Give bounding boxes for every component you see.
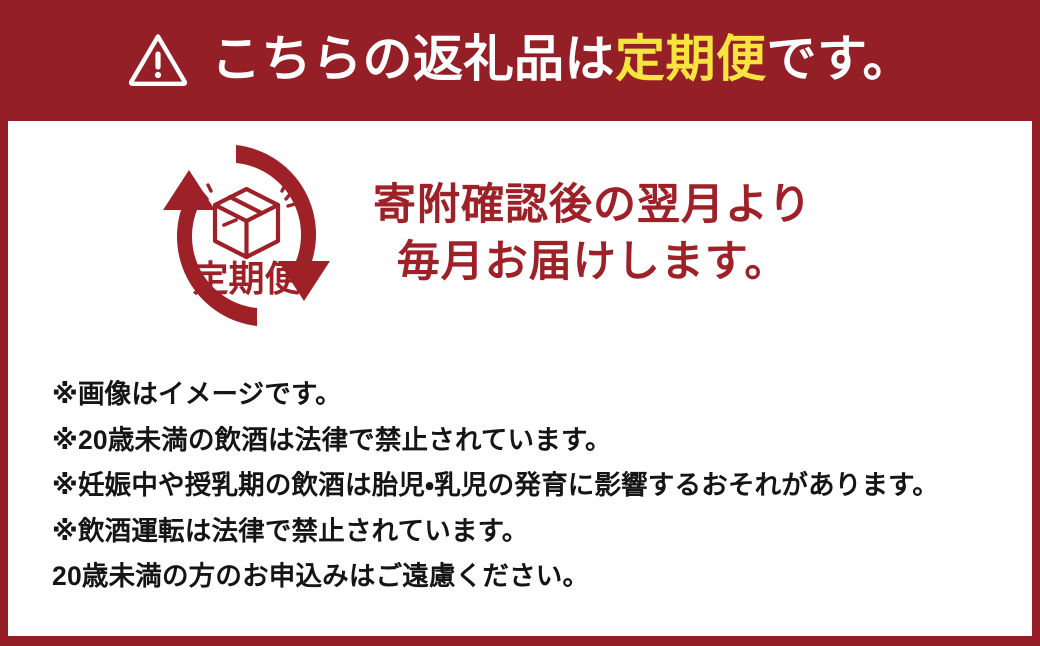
delivery-message: 寄附確認後の翌月より 毎月お届けします。 [373, 178, 812, 292]
parcel-box-icon [215, 189, 278, 257]
header-banner-content: こちらの返礼品は定期便です。 [127, 31, 913, 87]
delivery-message-line1: 寄附確認後の翌月より [373, 178, 812, 235]
note-item: ※飲酒運転は法律で禁止されています。 [52, 509, 1012, 555]
subscription-cycle-icon: 定期便 [144, 133, 349, 338]
header-banner: こちらの返礼品は定期便です。 [0, 0, 1040, 121]
note-item: 20歳未満の方のお申込みはご遠慮ください。 [52, 554, 1012, 600]
subscription-section: 定期便 寄附確認後の翌月より 毎月お届けします。 [8, 121, 1032, 349]
header-text-highlight: 定期便 [615, 31, 767, 87]
note-item: ※妊娠中や授乳期の飲酒は胎児・乳児の発育に影響するおそれがあります。 [52, 463, 1012, 509]
note-item: ※画像はイメージです。 [52, 372, 1012, 418]
header-banner-text: こちらの返礼品は定期便です。 [211, 34, 913, 84]
header-text-after: です。 [767, 31, 914, 87]
cycle-arc-left [163, 170, 257, 326]
note-item: ※20歳未満の飲酒は法律で禁止されています。 [52, 418, 1012, 464]
warning-triangle-icon [127, 31, 189, 87]
header-text-before: こちらの返礼品は [211, 31, 615, 87]
promo-card: こちらの返礼品は定期便です。 [0, 0, 1040, 646]
delivery-message-line2: 毎月お届けします。 [373, 235, 812, 292]
notes-list: ※画像はイメージです。 ※20歳未満の飲酒は法律で禁止されています。 ※妊娠中や… [52, 372, 1012, 600]
subscription-badge-label: 定期便 [192, 258, 301, 299]
